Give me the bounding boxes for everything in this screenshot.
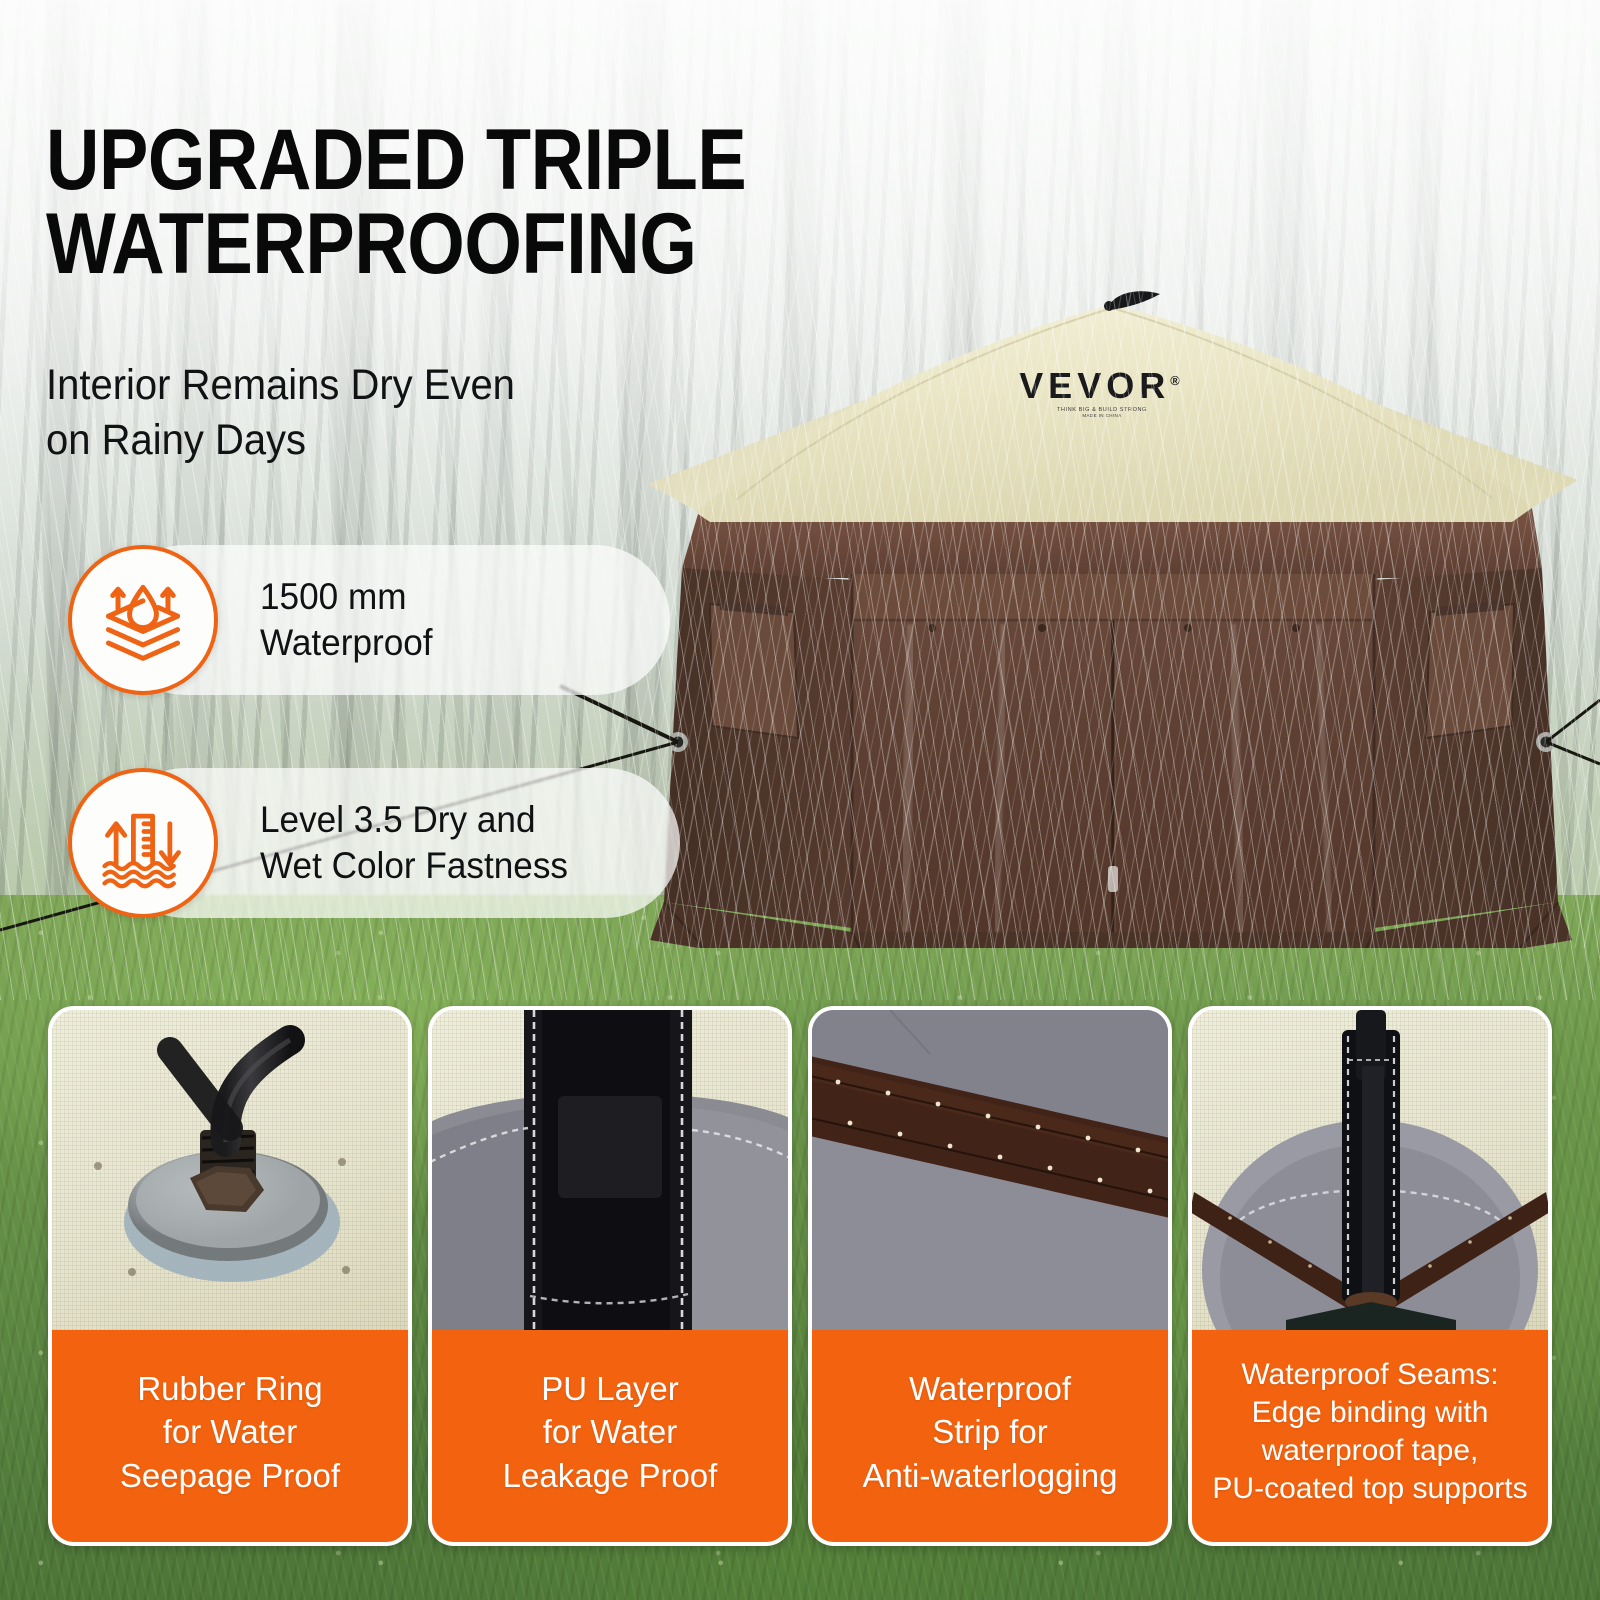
color-fastness-gauge-icon: [68, 768, 218, 918]
vevor-brand-lockup: VEVOR® THINK BIG & BUILD STRONG MADE IN …: [942, 368, 1262, 418]
waterproof-seams-hub-photo: [1192, 1010, 1548, 1330]
panel-caption-waterproof-seams: Waterproof Seams: Edge binding with wate…: [1192, 1330, 1548, 1542]
grommet-detail: [52, 1010, 408, 1330]
hub-detail: [1192, 1010, 1548, 1330]
panel-rubber-ring[interactable]: Rubber Ring for Water Seepage Proof: [48, 1006, 412, 1546]
gauge-waves-glyph: [95, 795, 191, 891]
vevor-wordmark: VEVOR: [1019, 365, 1170, 406]
panel-waterproof-strip[interactable]: Waterproof Strip for Anti-waterlogging: [808, 1006, 1172, 1546]
page-title: UPGRADED TRIPLE WATERPROOFING: [46, 118, 751, 287]
gazebo-tent-illustration: VEVOR® THINK BIG & BUILD STRONG MADE IN …: [612, 268, 1600, 948]
registered-mark: ®: [1170, 373, 1185, 388]
panel-caption-rubber-ring: Rubber Ring for Water Seepage Proof: [52, 1330, 408, 1542]
waterproof-strip-photo: [812, 1010, 1168, 1330]
panel-waterproof-seams[interactable]: Waterproof Seams: Edge binding with wate…: [1188, 1006, 1552, 1546]
page-subtitle: Interior Remains Dry Even on Rainy Days: [46, 358, 641, 468]
feature-panel-row: Rubber Ring for Water Seepage Proof: [48, 1006, 1552, 1546]
panel-caption-pu-layer: PU Layer for Water Leakage Proof: [432, 1330, 788, 1542]
rubber-ring-grommet-photo: [52, 1010, 408, 1330]
pu-layer-seam-photo: [432, 1010, 788, 1330]
feature-label-waterproof: 1500 mm Waterproof: [260, 574, 433, 667]
pu-seam-detail: [432, 1010, 788, 1330]
feature-label-color-fastness: Level 3.5 Dry and Wet Color Fastness: [260, 797, 568, 890]
brand-fineprint-2: MADE IN CHINA: [942, 413, 1262, 418]
layers-droplet-glyph: [95, 572, 191, 668]
panel-pu-layer[interactable]: PU Layer for Water Leakage Proof: [428, 1006, 792, 1546]
strip-detail: [812, 1010, 1168, 1330]
water-repellent-layers-icon: [68, 545, 218, 695]
panel-caption-waterproof-strip: Waterproof Strip for Anti-waterlogging: [812, 1330, 1168, 1542]
